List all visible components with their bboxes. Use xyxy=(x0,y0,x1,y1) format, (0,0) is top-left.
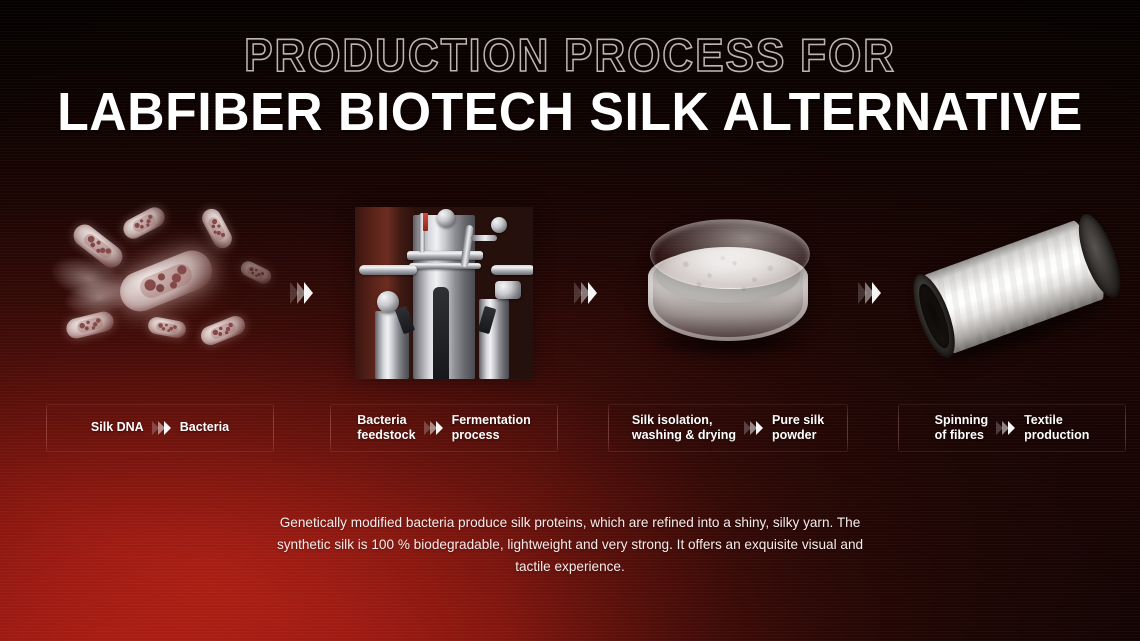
stage-3-from-label: Silk isolation, washing & drying xyxy=(632,413,736,444)
stage-4-visual xyxy=(896,205,1128,380)
petri-dish-silk-powder-image xyxy=(630,207,826,379)
stage-2-from-label: Bacteria feedstock xyxy=(357,413,415,444)
triple-chevron-right-icon xyxy=(745,421,763,435)
bacterium xyxy=(147,315,187,338)
stage-1-from-label: Silk DNA xyxy=(91,420,144,435)
triple-chevron-right-icon xyxy=(997,421,1015,435)
process-stage-isolation: Silk isolation, washing & drying Pure si… xyxy=(612,205,844,452)
stage-1-to-label: Bacteria xyxy=(180,420,229,435)
description-paragraph: Genetically modified bacteria produce si… xyxy=(270,512,870,577)
stage-separator-2 xyxy=(560,205,612,380)
page-title: LABFIBER BIOTECH SILK ALTERNATIVE xyxy=(23,85,1117,140)
bioreactor-fermentation-tank-image xyxy=(355,207,533,379)
stage-2-to-label: Fermentation process xyxy=(452,413,531,444)
reactor-sight-glass xyxy=(433,287,449,379)
bacterium xyxy=(120,203,168,241)
stage-4-label-box[interactable]: Spinning of fibres Textile production xyxy=(898,404,1126,452)
stage-4-to-label: Textile production xyxy=(1024,413,1089,444)
reactor-valve-knob xyxy=(491,217,507,233)
stage-4-from-label: Spinning of fibres xyxy=(935,413,988,444)
stage-3-label-box[interactable]: Silk isolation, washing & drying Pure si… xyxy=(608,404,848,452)
stage-separator-3 xyxy=(844,205,896,380)
triple-chevron-right-icon xyxy=(292,282,313,304)
bacterium xyxy=(198,313,248,348)
stage-2-label-box[interactable]: Bacteria feedstock Fermentation process xyxy=(330,404,558,452)
triple-chevron-right-icon xyxy=(153,421,171,435)
stage-1-visual xyxy=(44,205,276,380)
dish-lid xyxy=(650,219,810,289)
triple-chevron-right-icon xyxy=(425,421,443,435)
process-stage-bacteria: Silk DNA Bacteria xyxy=(44,205,276,452)
triple-chevron-right-icon xyxy=(576,282,597,304)
bacterium xyxy=(199,205,235,251)
process-stage-spinning: Spinning of fibres Textile production xyxy=(896,205,1128,452)
triple-chevron-right-icon xyxy=(860,282,881,304)
reactor-rail xyxy=(491,265,533,275)
reactor-fitting xyxy=(495,281,521,299)
reactor-indicator xyxy=(423,213,428,231)
reactor-valve-knob xyxy=(437,209,455,227)
bacterium xyxy=(238,258,273,286)
process-flow: Silk DNA Bacteria xyxy=(44,205,1096,465)
stage-3-visual xyxy=(612,205,844,380)
stage-separator-1 xyxy=(276,205,328,380)
bacteria-microscopy-image xyxy=(44,207,276,379)
reactor-rail xyxy=(359,265,417,275)
bacterium-main xyxy=(114,244,218,317)
process-stage-fermentation: Bacteria feedstock Fermentation process xyxy=(328,205,560,452)
reactor-pipe xyxy=(471,235,497,241)
silk-thread-spool-image xyxy=(896,207,1128,379)
page-header: PRODUCTION PROCESS FOR LABFIBER BIOTECH … xyxy=(0,32,1140,140)
stage-2-visual xyxy=(328,205,560,380)
stage-3-to-label: Pure silk powder xyxy=(772,413,824,444)
reactor-flange xyxy=(407,251,483,260)
reactor-flange xyxy=(409,263,481,269)
title-line-outline: PRODUCTION PROCESS FOR xyxy=(40,32,1100,78)
stage-1-label-box[interactable]: Silk DNA Bacteria xyxy=(46,404,274,452)
infographic-canvas: PRODUCTION PROCESS FOR LABFIBER BIOTECH … xyxy=(0,0,1140,641)
